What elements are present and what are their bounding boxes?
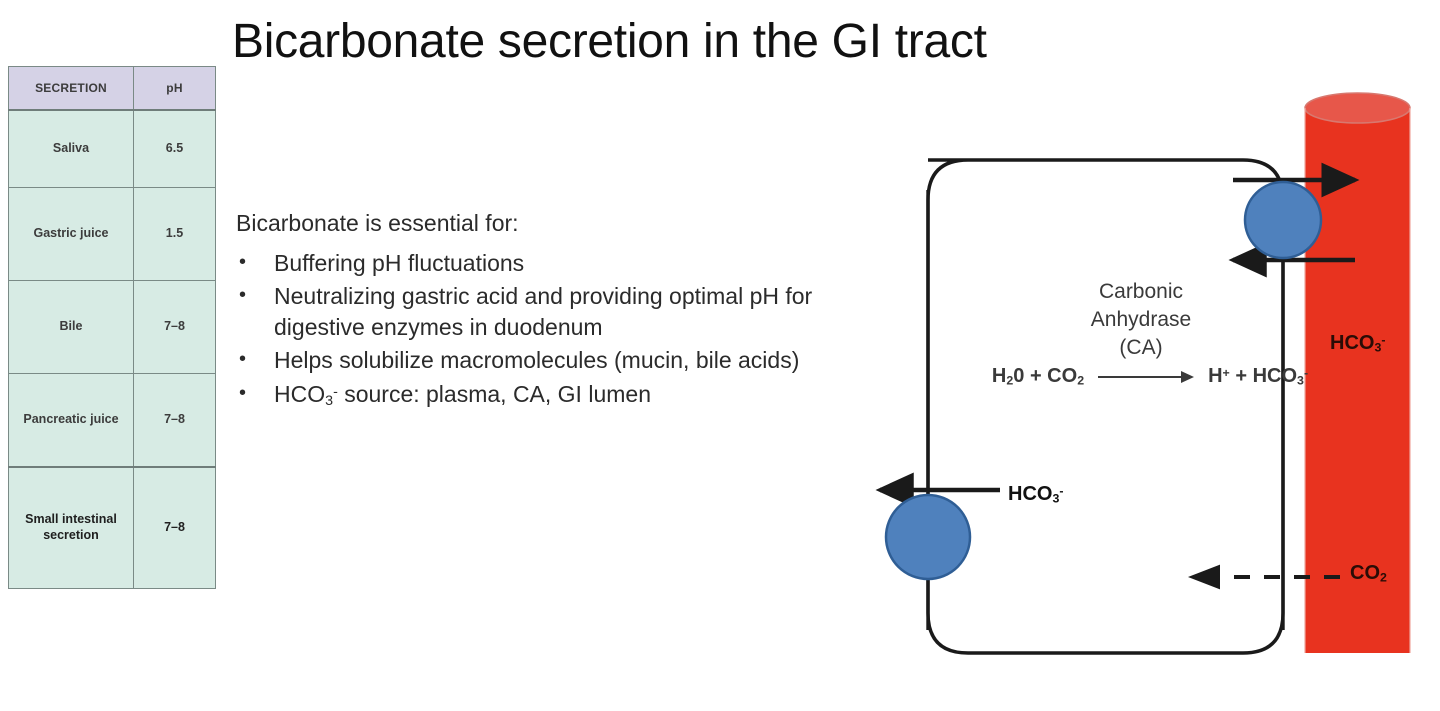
table-header-ph: pH bbox=[134, 67, 216, 111]
reaction-arrow-icon bbox=[1098, 370, 1194, 384]
ca-abbrev: (CA) bbox=[1006, 334, 1276, 362]
epithelial-cell-outline bbox=[928, 160, 1283, 653]
table-cell-secretion: Saliva bbox=[9, 110, 134, 188]
reaction-products: H+ + HCO3- bbox=[1208, 365, 1308, 388]
carbonic-anhydrase-label: Carbonic Anhydrase (CA) bbox=[1006, 278, 1276, 362]
secretion-ph-table: SECRETION pH Saliva 6.5 Gastric juice 1.… bbox=[8, 66, 216, 589]
table-cell-ph: 1.5 bbox=[134, 188, 216, 281]
list-item-label: Helps solubilize macromolecules (mucin, … bbox=[274, 347, 799, 373]
bullet-list: • Buffering pH fluctuations • Neutralizi… bbox=[236, 248, 816, 411]
label-co2: CO2 bbox=[1350, 562, 1387, 585]
list-item: • Helps solubilize macromolecules (mucin… bbox=[236, 345, 816, 376]
carbonic-anhydrase-reaction: H20 + CO2 H+ + HCO3- bbox=[930, 365, 1370, 388]
list-item-label: Buffering pH fluctuations bbox=[274, 250, 524, 276]
list-item-label: Neutralizing gastric acid and providing … bbox=[274, 283, 812, 340]
table-cell-secretion: Pancreatic juice bbox=[9, 374, 134, 468]
bicarbonate-secretion-diagram: Carbonic Anhydrase (CA) H20 + CO2 H+ + H… bbox=[840, 70, 1440, 690]
table-header-row: SECRETION pH bbox=[9, 67, 216, 111]
table-header-secretion: SECRETION bbox=[9, 67, 134, 111]
bullet-icon: • bbox=[239, 248, 246, 276]
list-item: • HCO3- source: plasma, CA, GI lumen bbox=[236, 379, 816, 411]
ca-line-1: Carbonic bbox=[1006, 278, 1276, 306]
apical-exchanger-icon bbox=[886, 495, 970, 579]
ca-line-2: Anhydrase bbox=[1006, 306, 1276, 334]
table-cell-secretion: Small intestinal secretion bbox=[9, 467, 134, 589]
table-cell-ph: 6.5 bbox=[134, 110, 216, 188]
bullet-icon: • bbox=[239, 379, 246, 407]
table-cell-ph: 7–8 bbox=[134, 281, 216, 374]
label-lumen-hco3: HCO3- bbox=[1008, 483, 1064, 506]
table-row: Gastric juice 1.5 bbox=[9, 188, 216, 281]
bullet-icon: • bbox=[239, 281, 246, 309]
bullet-icon: • bbox=[239, 345, 246, 373]
table-row: Small intestinal secretion 7–8 bbox=[9, 467, 216, 589]
table-cell-ph: 7–8 bbox=[134, 467, 216, 589]
list-item-label: HCO3- source: plasma, CA, GI lumen bbox=[274, 381, 651, 407]
reaction-reactants: H20 + CO2 bbox=[992, 365, 1084, 388]
list-item: • Neutralizing gastric acid and providin… bbox=[236, 281, 816, 342]
table-row: Saliva 6.5 bbox=[9, 110, 216, 188]
page-title: Bicarbonate secretion in the GI tract bbox=[232, 14, 987, 69]
body-text-block: Bicarbonate is essential for: • Bufferin… bbox=[236, 208, 816, 414]
table-cell-ph: 7–8 bbox=[134, 374, 216, 468]
intro-line: Bicarbonate is essential for: bbox=[236, 208, 816, 239]
table-row: Pancreatic juice 7–8 bbox=[9, 374, 216, 468]
table-cell-secretion: Gastric juice bbox=[9, 188, 134, 281]
list-item: • Buffering pH fluctuations bbox=[236, 248, 816, 279]
table-cell-secretion: Bile bbox=[9, 281, 134, 374]
basolateral-exchanger-icon bbox=[1245, 182, 1321, 258]
table-row: Bile 7–8 bbox=[9, 281, 216, 374]
label-vessel-hco3: HCO3- bbox=[1330, 332, 1386, 355]
